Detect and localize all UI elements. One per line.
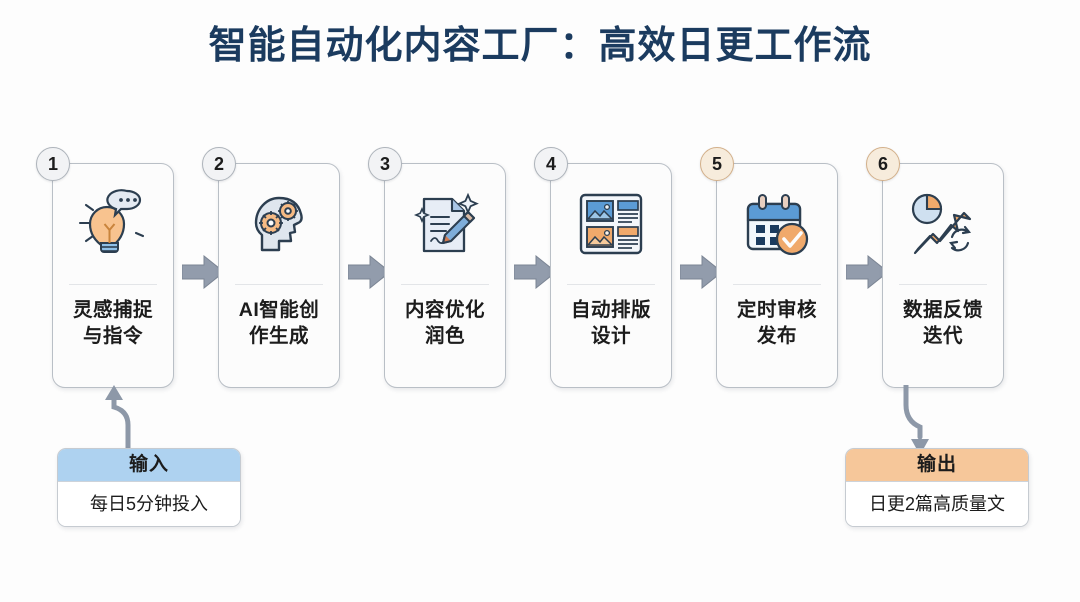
step-card-2[interactable]: 2 (218, 163, 340, 388)
step-card-1[interactable]: 1 灵感捕捉 与指令 (52, 163, 174, 388)
step-label-1: 灵感捕捉 与指令 (57, 285, 169, 387)
step-label-5: 定时审核 发布 (721, 285, 833, 387)
step-label-line: 设计 (555, 323, 667, 349)
page-layout-icon (550, 164, 672, 284)
step-badge-2: 2 (202, 147, 236, 181)
step-label-6: 数据反馈 迭代 (887, 285, 999, 387)
step-label-4: 自动排版 设计 (555, 285, 667, 387)
step-label-line: 与指令 (57, 323, 169, 349)
chart-growth-refresh-icon (882, 164, 1004, 284)
step-label-line: 数据反馈 (887, 297, 999, 323)
step-label-line: 内容优化 (389, 297, 501, 323)
step-badge-3: 3 (368, 147, 402, 181)
document-pencil-sparkle-icon (384, 164, 506, 284)
output-box-body: 日更2篇高质量文 (846, 481, 1028, 526)
step-label-line: 自动排版 (555, 297, 667, 323)
step-label-line: 发布 (721, 323, 833, 349)
step-badge-4: 4 (534, 147, 568, 181)
input-box-header: 输入 (58, 449, 240, 481)
step-label-line: 作生成 (223, 323, 335, 349)
input-box-body: 每日5分钟投入 (58, 481, 240, 526)
step-badge-6: 6 (866, 147, 900, 181)
step-label-line: 迭代 (887, 323, 999, 349)
step6-to-output-connector (880, 385, 1000, 457)
step-label-line: 定时审核 (721, 297, 833, 323)
output-box-header: 输出 (846, 449, 1028, 481)
brain-gears-icon (218, 164, 340, 284)
step-label-2: AI智能创 作生成 (223, 285, 335, 387)
step-card-6[interactable]: 6 数据反馈 迭代 (882, 163, 1004, 388)
output-box[interactable]: 输出 日更2篇高质量文 (845, 448, 1029, 527)
step-badge-1: 1 (36, 147, 70, 181)
input-box[interactable]: 输入 每日5分钟投入 (57, 448, 241, 527)
input-to-step1-connector (88, 385, 208, 457)
step-label-line: 润色 (389, 323, 501, 349)
step-card-3[interactable]: 3 内容优化 (384, 163, 506, 388)
step-card-4[interactable]: 4 自动排版 设计 (550, 163, 672, 388)
lightbulb-idea-icon (52, 164, 174, 284)
step-label-3: 内容优化 润色 (389, 285, 501, 387)
step-label-line: 灵感捕捉 (57, 297, 169, 323)
step-label-line: AI智能创 (223, 297, 335, 323)
step-badge-5: 5 (700, 147, 734, 181)
workflow-flow-row: 1 灵感捕捉 与指令 (52, 163, 1032, 388)
page-title: 智能自动化内容工厂：高效日更工作流 (0, 26, 1080, 68)
step-card-5[interactable]: 5 定时审核 发布 (716, 163, 838, 388)
calendar-check-icon (716, 164, 838, 284)
